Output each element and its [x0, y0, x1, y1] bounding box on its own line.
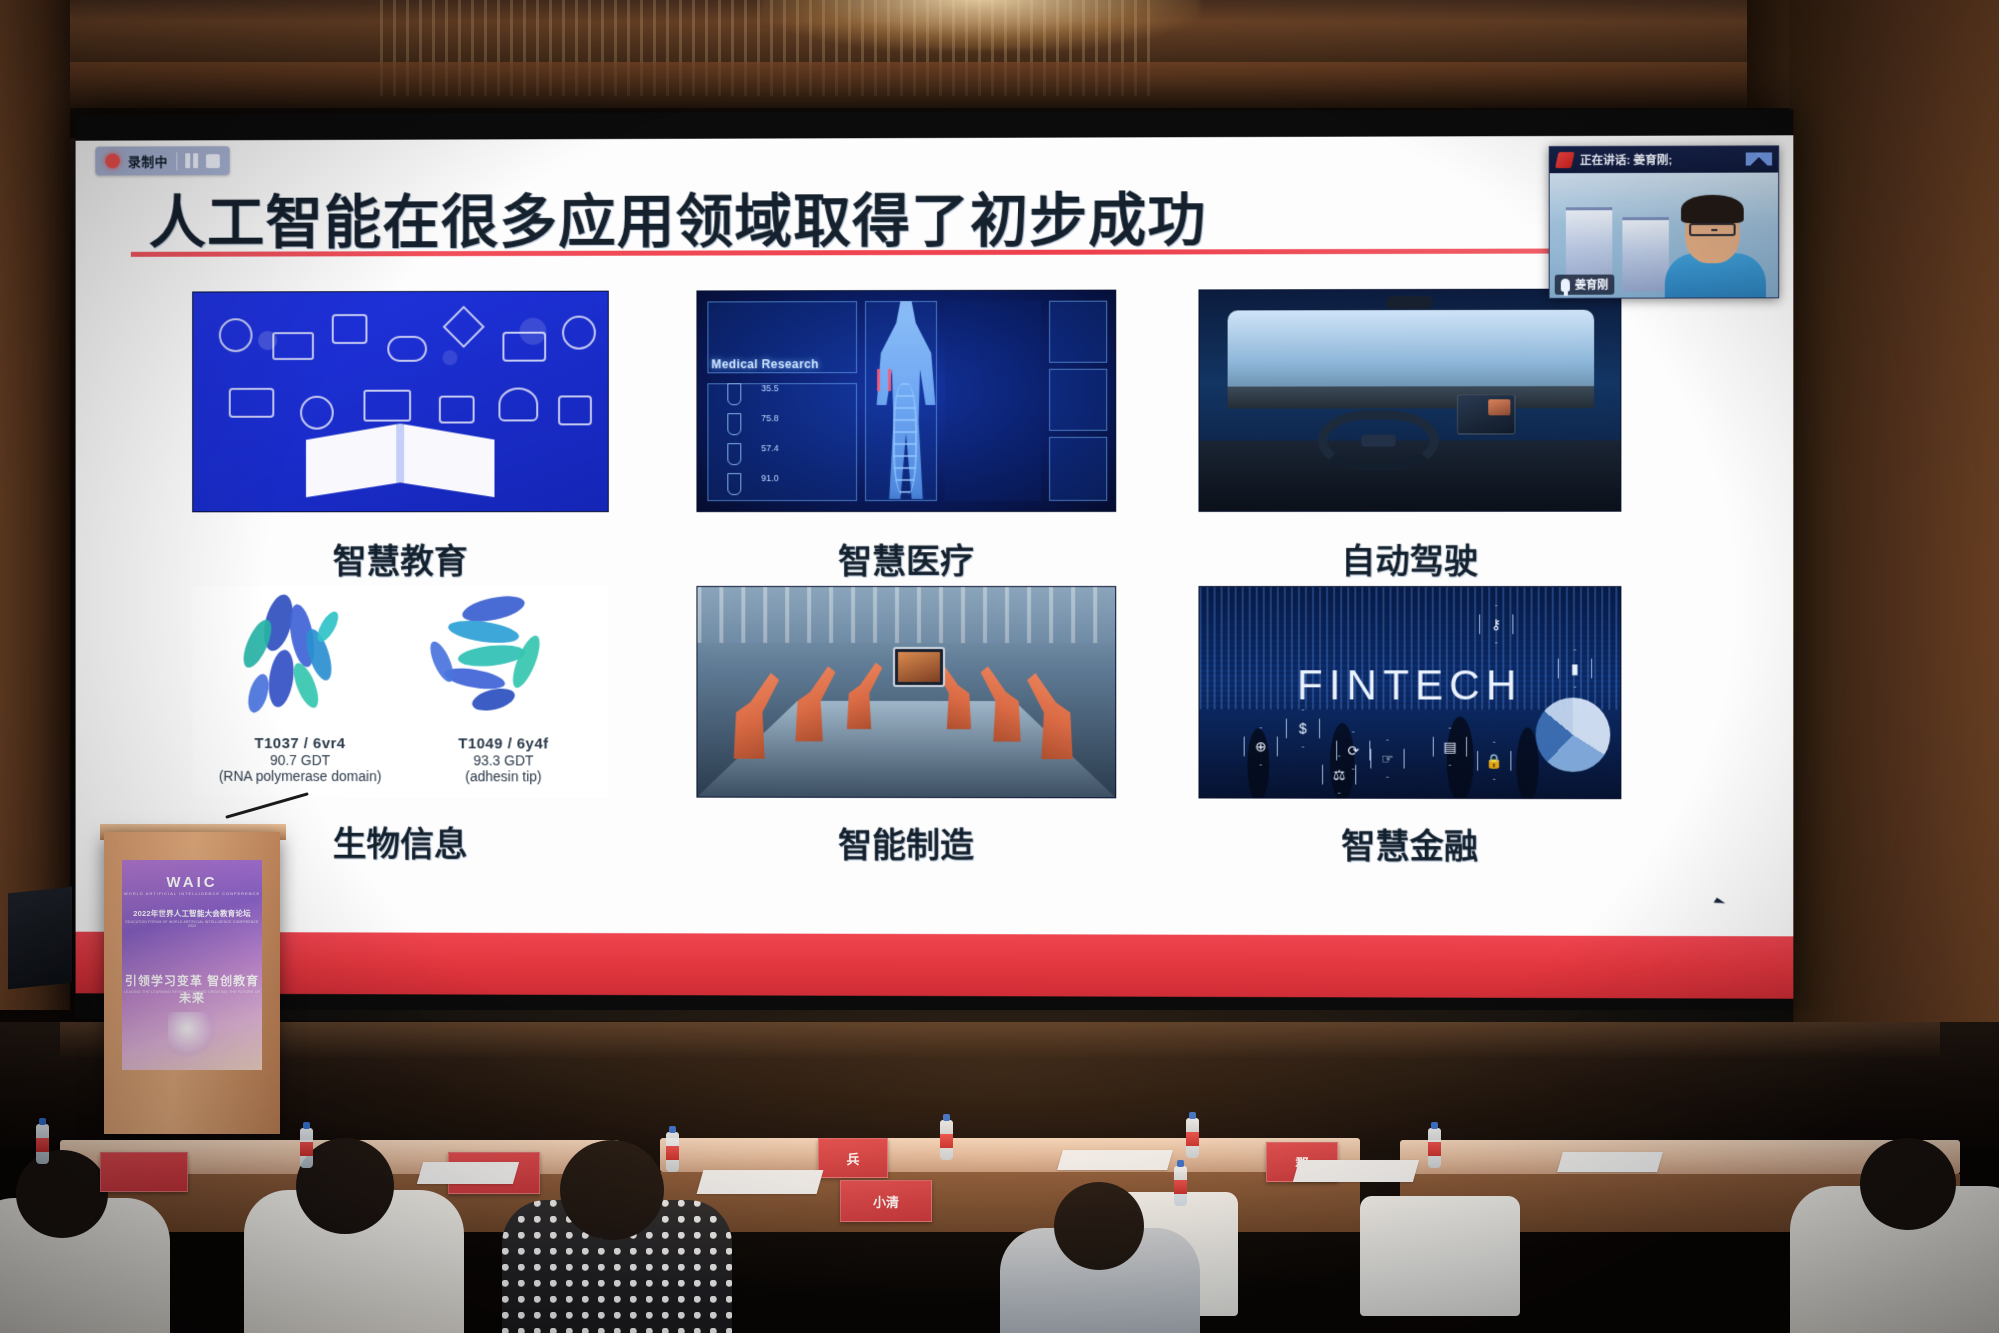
glasses-icon	[1689, 223, 1736, 236]
waic-brand: WAIC WORLD ARTIFICIAL INTELLIGENCE CONFE…	[122, 874, 262, 896]
forum-slogan-en: LEADING THE LEARNING REVOLUTION AND CREA…	[122, 990, 262, 998]
stop-icon[interactable]	[206, 154, 220, 168]
protein-2-name: T1049 / 6y4f	[404, 735, 603, 752]
chair	[1360, 1196, 1520, 1316]
robotic-assembly-art	[697, 587, 1115, 797]
video-feed[interactable]: 姜育刚	[1550, 173, 1778, 299]
conference-hall-screenshot: 录制中 人工智能在很多应用领域取得了初步成功	[0, 0, 1999, 1333]
forum-title-en: EDUCATION FORUM OF WORLD ARTIFICIAL INTE…	[122, 920, 262, 928]
paper-document	[697, 1170, 824, 1194]
paper-document	[1293, 1160, 1419, 1182]
nameplate: 兵	[818, 1138, 888, 1178]
nameplate	[100, 1152, 188, 1192]
caption-smart-healthcare: 智慧医疗	[696, 534, 1116, 583]
medical-value-2: 75.8	[761, 413, 778, 423]
slide-footer-band: 复旦	[76, 932, 1794, 999]
paper-document	[1057, 1150, 1173, 1170]
recording-label: 录制中	[128, 151, 168, 170]
car-interior-art	[1199, 290, 1620, 511]
protein-1-score: 90.7 GDT	[206, 752, 394, 768]
wall-strip	[0, 62, 1999, 108]
water-bottle	[300, 1128, 313, 1168]
audience-person-head	[560, 1140, 664, 1240]
recording-badge[interactable]: 录制中	[95, 146, 229, 175]
center-console-screen	[1457, 394, 1515, 434]
thumbnail-smart-healthcare: Medical Research 35.5 75.8 57.4 91.0	[696, 290, 1116, 512]
network-icon	[1746, 152, 1772, 165]
medical-hud-art: Medical Research 35.5 75.8 57.4 91.0	[697, 291, 1115, 511]
participant-name: 姜育刚	[1575, 277, 1608, 293]
waic-brand-subtitle: WORLD ARTIFICIAL INTELLIGENCE CONFERENCE	[122, 891, 262, 896]
education-doodle-art	[193, 292, 608, 512]
video-call-overlay[interactable]: 正在讲话: 姜育刚; 姜育刚	[1549, 145, 1779, 298]
medical-research-label: Medical Research	[711, 357, 819, 371]
caption-autonomous-driving: 自动驾驶	[1198, 534, 1621, 583]
participant-nametag: 姜育刚	[1555, 275, 1615, 295]
table	[660, 1138, 1360, 1172]
protein-2-note: (adhesin tip)	[404, 768, 603, 784]
paper-document	[417, 1162, 519, 1184]
steering-wheel-icon	[1318, 410, 1439, 470]
pause-icon[interactable]	[185, 153, 198, 168]
paper-document	[1557, 1152, 1663, 1172]
protein-1-note: (RNA polymerase domain)	[206, 768, 394, 784]
card-smart-finance: FINTECH ⚷ $ ⟳ ⚖ ☞ ▤ 🔒 ⊕ ▮	[1198, 586, 1621, 799]
water-bottle	[36, 1124, 49, 1164]
caption-smart-education: 智慧教育	[192, 534, 609, 583]
video-call-titlebar: 正在讲话: 姜育刚;	[1550, 146, 1778, 173]
water-bottle	[1186, 1118, 1199, 1158]
thumbnail-smart-finance: FINTECH ⚷ $ ⟳ ⚖ ☞ ▤ 🔒 ⊕ ▮	[1198, 586, 1621, 799]
road-surface	[1228, 386, 1595, 409]
factory-monitor-screen	[893, 647, 945, 687]
floor-speaker-monitor	[8, 887, 72, 990]
speaking-label: 正在讲话: 姜育刚;	[1580, 152, 1672, 168]
protein-structure-2	[414, 588, 593, 728]
water-bottle	[1174, 1166, 1187, 1206]
rearview-mirror-icon	[1386, 296, 1432, 309]
medical-value-4: 91.0	[761, 473, 778, 483]
card-smart-education	[192, 291, 609, 513]
pie-chart-icon	[1536, 698, 1611, 772]
fintech-art: FINTECH ⚷ $ ⟳ ⚖ ☞ ▤ 🔒 ⊕ ▮	[1199, 587, 1620, 798]
factory-ceiling	[697, 587, 1115, 643]
nameplate: 小清	[840, 1180, 932, 1222]
protein-2-score: 93.3 GDT	[404, 752, 603, 768]
thumbnail-autonomous-driving	[1198, 289, 1621, 512]
audience-person-head	[1054, 1182, 1144, 1270]
ceiling-lamp	[760, 0, 1200, 50]
thumbnail-smart-education	[192, 291, 609, 513]
divider	[176, 152, 177, 170]
water-bottle	[1428, 1128, 1441, 1168]
mic-icon	[1561, 278, 1570, 291]
water-bottle	[940, 1120, 953, 1160]
audience-area: 周爱民 兵 小清 郡	[0, 1000, 1999, 1333]
speaker-avatar	[1659, 195, 1772, 299]
caption-smart-manufacturing: 智能制造	[696, 818, 1116, 868]
wall-panel-right	[1789, 0, 1999, 1030]
meeting-app-logo	[1555, 152, 1575, 168]
slide-title: 人工智能在很多应用领域取得了初步成功	[149, 173, 1207, 260]
card-bioinformatics: T1037 / 6vr4 90.7 GDT (RNA polymerase do…	[192, 586, 609, 798]
card-autonomous-driving	[1198, 289, 1621, 512]
card-smart-manufacturing	[696, 586, 1116, 798]
led-presentation-screen: 录制中 人工智能在很多应用领域取得了初步成功	[76, 109, 1794, 1025]
water-bottle	[666, 1132, 679, 1172]
wall-panel-left	[0, 0, 70, 1010]
protein-1-name: T1037 / 6vr4	[206, 735, 394, 752]
medical-value-3: 57.4	[761, 443, 778, 453]
audience-person-head	[1860, 1138, 1956, 1230]
presentation-slide: 录制中 人工智能在很多应用领域取得了初步成功	[76, 135, 1794, 936]
waic-brand-text: WAIC	[166, 874, 217, 891]
caption-smart-finance: 智慧金融	[1198, 818, 1621, 868]
open-book-icon	[306, 423, 494, 497]
application-cards-grid: 智慧教育	[131, 288, 1737, 922]
protein-structure-1	[210, 588, 388, 727]
medical-value-1: 35.5	[761, 383, 778, 393]
forum-title-cn: 2022年世界人工智能大会教育论坛	[122, 908, 262, 919]
protein-structure-art: T1037 / 6vr4 90.7 GDT (RNA polymerase do…	[192, 586, 609, 798]
dna-helix-icon	[893, 383, 917, 495]
card-smart-healthcare: Medical Research 35.5 75.8 57.4 91.0	[696, 290, 1116, 512]
audience-person-head	[16, 1150, 108, 1238]
thumbnail-smart-manufacturing	[696, 586, 1116, 798]
recording-dot-icon	[105, 153, 120, 168]
